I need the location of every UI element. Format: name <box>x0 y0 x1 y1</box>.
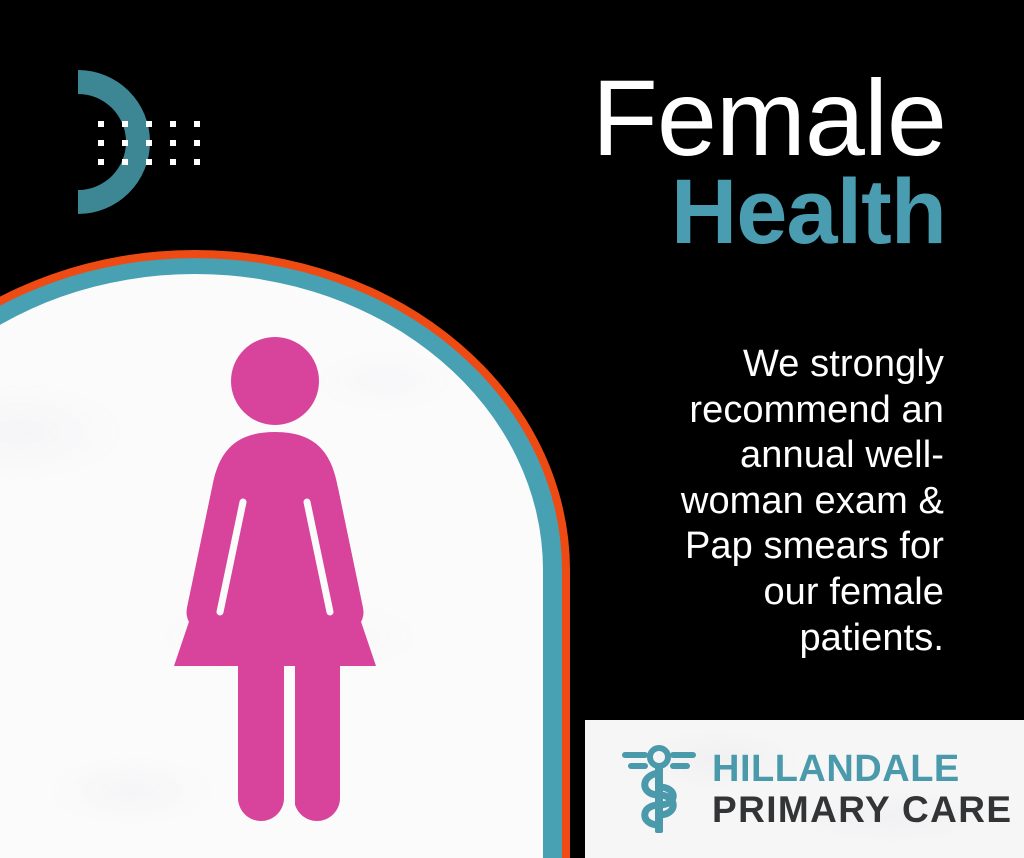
poster-canvas: Female Health We strongly recommend an a… <box>0 0 1024 858</box>
title-line-female: Female <box>592 64 946 172</box>
logo-line-hillandale: HILLANDALE <box>712 750 1013 788</box>
half-ring-arc-icon <box>78 70 150 214</box>
page-title: Female Health <box>592 64 946 258</box>
decorative-arc-graphic <box>60 62 210 222</box>
logo-strip: HILLANDALE PRIMARY CARE <box>585 720 1024 858</box>
caduceus-icon <box>620 743 698 835</box>
body-copy-text: We strongly recommend an annual well-wom… <box>644 342 944 661</box>
female-figure-icon <box>160 336 390 828</box>
dot-grid-icon <box>98 121 210 165</box>
logo-line-primary-care: PRIMARY CARE <box>712 791 1013 828</box>
title-line-health: Health <box>592 166 946 258</box>
logo-wordmark: HILLANDALE PRIMARY CARE <box>712 750 1013 828</box>
